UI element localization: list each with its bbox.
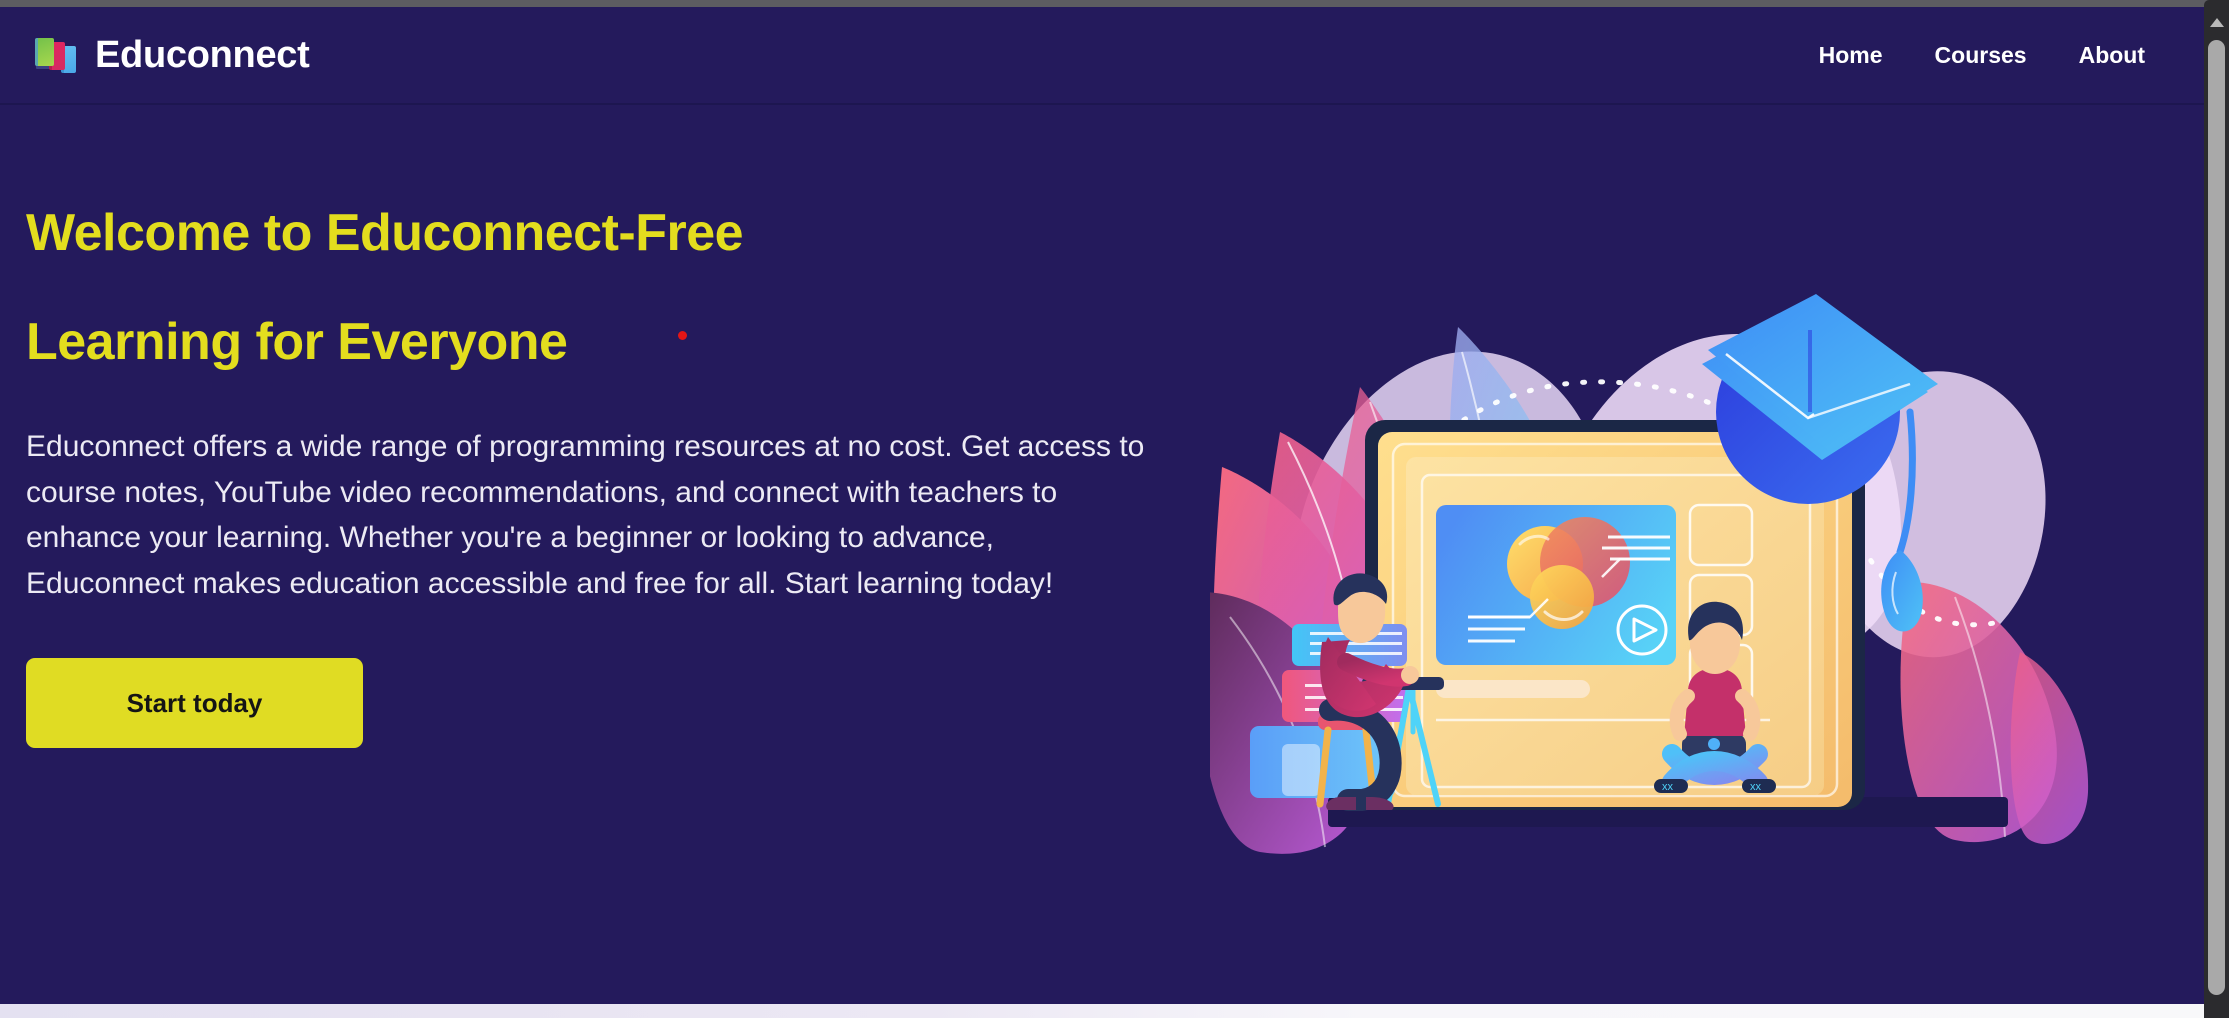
hero-copy: Welcome to Educonnect-Free Learning for … xyxy=(26,207,1206,748)
stacked-books-icon xyxy=(34,34,78,76)
browser-chrome-strip xyxy=(0,0,2229,7)
nav-link-about[interactable]: About xyxy=(2053,32,2171,79)
start-today-button[interactable]: Start today xyxy=(26,658,363,748)
hero-title-line2: Learning for Everyone xyxy=(26,316,1206,368)
nav-link-home[interactable]: Home xyxy=(1793,32,1909,79)
hero-paragraph: Educonnect offers a wide range of progra… xyxy=(26,424,1151,606)
site-header: Educonnect Home Courses About xyxy=(0,7,2204,105)
browser-viewport: Educonnect Home Courses About Welcome to… xyxy=(0,0,2229,1018)
brand-name: Educonnect xyxy=(95,34,309,77)
scrollbar-top-corner xyxy=(2204,0,2229,7)
next-section-band xyxy=(0,1004,2204,1018)
svg-text:xx: xx xyxy=(1662,781,1674,793)
nav-link-courses[interactable]: Courses xyxy=(1909,32,2053,79)
web-page: Educonnect Home Courses About Welcome to… xyxy=(0,7,2204,1018)
brand[interactable]: Educonnect xyxy=(34,34,309,77)
scrollbar-thumb[interactable] xyxy=(2208,40,2225,995)
hero-section: Welcome to Educonnect-Free Learning for … xyxy=(0,107,2204,1018)
vertical-scrollbar[interactable] xyxy=(2204,7,2229,1018)
red-dot-marker-icon xyxy=(678,331,687,340)
main-nav: Home Courses About xyxy=(1793,32,2171,79)
scroll-up-arrow-icon[interactable] xyxy=(2204,11,2229,33)
hero-title-line1: Welcome to Educonnect-Free xyxy=(26,207,1206,259)
online-education-illustration: xx xx xyxy=(1210,292,2090,862)
svg-text:xx: xx xyxy=(1750,781,1762,793)
